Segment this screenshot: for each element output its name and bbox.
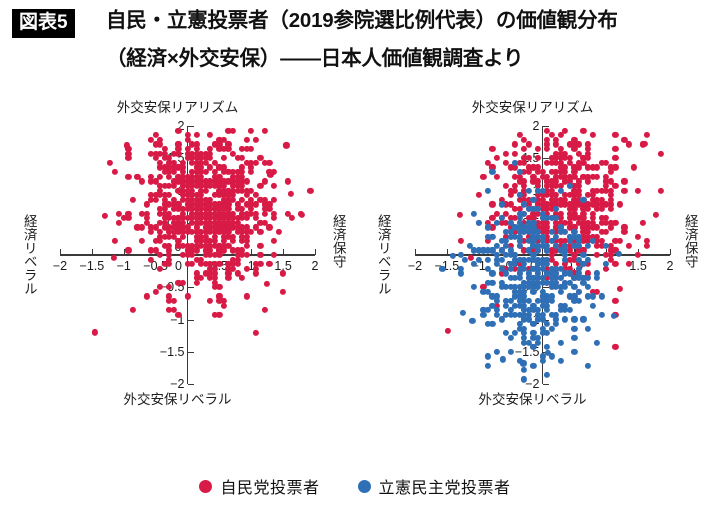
data-point	[558, 339, 564, 345]
data-point	[508, 335, 514, 341]
data-point	[562, 128, 568, 134]
data-point	[469, 318, 475, 324]
data-point	[157, 252, 163, 258]
data-point	[489, 201, 495, 207]
data-point	[658, 151, 664, 157]
scatter-chart-ldp: 外交安保リアリズム 経済リベラル 経済保守 外交安保リベラル −2−1.5−1−…	[0, 88, 355, 418]
legend-item-0: 自民党投票者	[199, 474, 319, 498]
data-point	[539, 358, 545, 364]
data-point	[571, 316, 577, 322]
data-point	[535, 155, 541, 161]
data-point	[267, 171, 273, 177]
data-point	[262, 128, 268, 134]
x-tick-label: −2	[53, 259, 67, 273]
data-point	[571, 326, 577, 332]
data-point	[567, 307, 573, 313]
data-point	[612, 155, 618, 161]
y-tick	[188, 287, 194, 288]
data-point	[485, 257, 491, 263]
data-point	[230, 128, 236, 134]
data-point	[562, 316, 568, 322]
data-point	[494, 155, 500, 161]
data-point	[139, 238, 145, 244]
charts-container: 外交安保リアリズム 経済リベラル 経済保守 外交安保リベラル −2−1.5−1−…	[0, 88, 710, 418]
title-block: 図表5 自民・立憲投票者（2019参院選比例代表）の価値観分布 （経済×外交安保…	[0, 0, 710, 88]
y-tick	[188, 384, 194, 385]
data-point	[462, 257, 468, 263]
data-point	[658, 187, 664, 193]
data-point	[307, 187, 313, 193]
data-point	[116, 220, 122, 226]
data-point	[460, 310, 466, 316]
data-point	[635, 252, 641, 258]
data-point	[617, 238, 623, 244]
axis-title-right: 経済保守	[683, 214, 697, 268]
data-point	[576, 298, 582, 304]
data-point	[635, 187, 641, 193]
x-tick	[670, 249, 671, 255]
data-point	[112, 169, 118, 175]
data-point	[166, 261, 172, 267]
data-point	[485, 362, 491, 368]
data-point	[275, 229, 281, 235]
legend-marker-icon	[358, 480, 371, 493]
axis-title-top: 外交安保リアリズム	[355, 96, 710, 116]
axis-title-top: 外交安保リアリズム	[0, 96, 355, 116]
data-point	[612, 132, 618, 138]
data-point	[558, 358, 564, 364]
legend-label: 自民党投票者	[220, 474, 319, 498]
data-point	[494, 174, 500, 180]
data-point	[611, 313, 617, 319]
data-point	[280, 270, 286, 276]
data-point	[216, 284, 222, 290]
data-point	[494, 349, 500, 355]
data-point	[489, 280, 495, 286]
x-tick	[283, 249, 284, 255]
data-point	[257, 243, 263, 249]
data-point	[239, 275, 245, 281]
data-point	[617, 285, 623, 291]
y-tick	[188, 126, 194, 127]
x-tick	[315, 249, 316, 255]
data-point	[612, 146, 618, 152]
x-tick-label: −2	[408, 259, 422, 273]
data-point	[512, 141, 518, 147]
axis-title-left: 経済リベラル	[22, 214, 36, 295]
data-point	[585, 362, 591, 368]
x-tick-label: −1.5	[80, 259, 105, 273]
y-tick	[188, 352, 194, 353]
x-tick	[415, 249, 416, 255]
scatter-chart-ldp-cdp: 外交安保リアリズム 経済リベラル 経済保守 外交安保リベラル −2−1.5−1−…	[355, 88, 710, 418]
data-point	[644, 132, 650, 138]
data-point	[283, 142, 289, 148]
data-point	[476, 220, 482, 226]
data-point	[489, 146, 495, 152]
data-point	[262, 307, 268, 313]
data-point	[599, 312, 605, 318]
data-point	[621, 187, 627, 193]
x-tick-label: −1	[117, 259, 131, 273]
data-point	[612, 344, 618, 350]
data-point	[580, 128, 586, 134]
x-tick-label: −1.5	[435, 259, 460, 273]
data-point	[248, 128, 254, 134]
data-point	[594, 174, 600, 180]
data-point	[203, 187, 209, 193]
data-point	[485, 187, 491, 193]
data-point	[594, 339, 600, 345]
data-point	[139, 178, 145, 184]
data-point	[471, 210, 477, 216]
data-point	[599, 206, 605, 212]
data-point	[230, 238, 236, 244]
y-tick	[188, 320, 194, 321]
data-point	[626, 243, 632, 249]
data-point	[457, 212, 463, 218]
data-point	[257, 252, 263, 258]
data-point	[544, 372, 550, 378]
data-point	[102, 213, 108, 219]
data-point	[589, 132, 595, 138]
data-point	[288, 191, 294, 197]
data-point	[184, 293, 190, 299]
data-point	[621, 178, 627, 184]
data-point	[653, 212, 659, 218]
data-point	[130, 307, 136, 313]
data-point	[471, 284, 477, 290]
data-point	[194, 280, 200, 286]
data-point	[476, 192, 482, 198]
x-tick	[60, 249, 61, 255]
data-point	[617, 201, 623, 207]
data-point	[92, 329, 98, 335]
data-point	[299, 212, 305, 218]
data-point	[589, 303, 595, 309]
data-point	[549, 298, 555, 304]
data-point	[503, 151, 509, 157]
data-point	[576, 289, 582, 295]
data-point	[612, 298, 618, 304]
data-point	[257, 183, 263, 189]
data-point	[234, 261, 240, 267]
data-point	[489, 321, 495, 327]
data-point	[270, 252, 276, 258]
x-tick	[251, 249, 252, 255]
data-point	[143, 293, 149, 299]
data-point	[207, 298, 213, 304]
data-point	[589, 293, 595, 299]
data-point	[585, 243, 591, 249]
data-point	[253, 137, 259, 143]
y-tick-label: 2	[533, 119, 540, 133]
data-point	[457, 270, 463, 276]
plot-area-left: −2−1.5−1−0.500.511.52−2−1.5−1−0.50.511.5…	[60, 126, 315, 384]
data-point	[125, 174, 131, 180]
data-point	[544, 330, 550, 336]
x-tick-label: 0	[175, 259, 182, 273]
x-tick-label: 1.5	[629, 259, 646, 273]
figure-badge: 図表5	[12, 9, 75, 38]
data-point	[244, 293, 250, 299]
data-point	[280, 289, 286, 295]
axis-title-left: 経済リベラル	[376, 214, 390, 295]
data-point	[585, 326, 591, 332]
data-point	[207, 132, 213, 138]
data-point	[445, 328, 451, 334]
page-title-line-2: （経済×外交安保）——日本人価値観調査より	[106, 47, 523, 71]
data-point	[130, 197, 136, 203]
data-point	[112, 238, 118, 244]
data-point	[500, 356, 506, 362]
data-point	[257, 229, 263, 235]
y-tick-label: −2	[170, 377, 184, 391]
data-point	[616, 251, 622, 257]
legend: 自民党投票者立憲民主党投票者	[0, 466, 710, 506]
data-point	[271, 183, 277, 189]
data-point	[599, 293, 605, 299]
data-point	[266, 224, 272, 230]
data-point	[520, 360, 526, 366]
legend-item-1: 立憲民主党投票者	[358, 474, 511, 498]
data-point	[457, 238, 463, 244]
data-point	[512, 151, 518, 157]
data-point	[526, 187, 532, 193]
data-point	[244, 137, 250, 143]
data-point	[580, 316, 586, 322]
data-point	[262, 210, 268, 216]
axis-title-right: 経済保守	[331, 214, 345, 268]
data-point	[526, 141, 532, 147]
x-tick-label: 2	[312, 259, 319, 273]
data-point	[571, 349, 577, 355]
data-point	[266, 261, 272, 267]
data-point	[171, 298, 177, 304]
data-point	[153, 289, 159, 295]
data-point	[285, 178, 291, 184]
y-tick	[543, 384, 549, 385]
data-point	[612, 261, 618, 267]
data-point	[480, 174, 486, 180]
axis-title-bottom: 外交安保リベラル	[0, 388, 355, 408]
data-point	[489, 270, 495, 276]
data-point	[194, 132, 200, 138]
data-point	[508, 349, 514, 355]
data-point	[612, 164, 618, 170]
data-point	[635, 233, 641, 239]
legend-marker-icon	[199, 480, 212, 493]
data-point	[644, 243, 650, 249]
legend-label: 立憲民主党投票者	[379, 474, 511, 498]
data-point	[630, 164, 636, 170]
data-point	[107, 160, 113, 166]
data-point	[264, 281, 270, 287]
data-point	[253, 270, 259, 276]
axis-title-bottom: 外交安保リベラル	[355, 388, 710, 408]
data-point	[535, 146, 541, 152]
data-point	[521, 367, 527, 373]
y-tick-label: −2	[525, 377, 539, 391]
data-point	[216, 312, 222, 318]
plot-area-right: −2−1.5−1−0.500.511.52−2−1.5−1−0.50.511.5…	[415, 126, 670, 384]
data-point	[266, 160, 272, 166]
data-point	[571, 335, 577, 341]
data-point	[621, 229, 627, 235]
data-point	[641, 141, 647, 147]
x-tick-label: 2	[667, 259, 674, 273]
data-point	[594, 164, 600, 170]
x-tick	[92, 249, 93, 255]
y-tick-label: −1.5	[160, 345, 185, 359]
data-point	[125, 247, 131, 253]
data-point	[485, 353, 491, 359]
data-point	[594, 252, 600, 258]
data-point	[626, 141, 632, 147]
data-point	[530, 362, 536, 368]
data-point	[139, 224, 145, 230]
x-tick	[447, 249, 448, 255]
data-point	[271, 238, 277, 244]
data-point	[640, 220, 646, 226]
data-point	[221, 155, 227, 161]
data-point	[289, 215, 295, 221]
page-title-line-1: 自民・立憲投票者（2019参院選比例代表）の価値観分布	[106, 9, 618, 33]
data-point	[253, 330, 259, 336]
